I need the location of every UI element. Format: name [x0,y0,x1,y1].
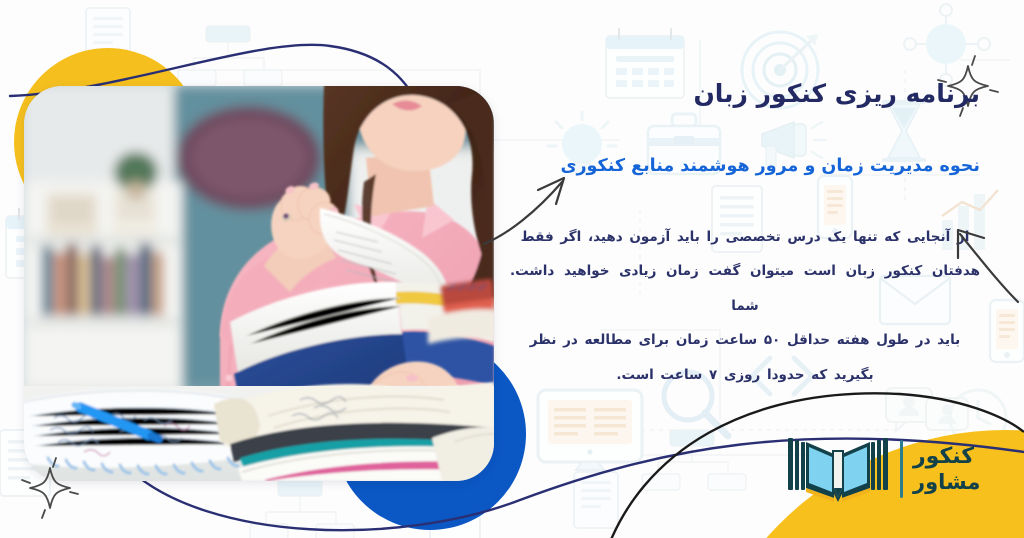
text-column: برنامه ریزی کنکور زبان نحوه مدیریت زمان … [510,78,980,392]
brand-logo[interactable]: کنکور مشاور [786,432,980,506]
brand-line-1: کنکور [913,445,974,468]
paragraph-line: باید در طول هفته حداقل ۵۰ ساعت زمان برای… [510,323,980,357]
page-title: برنامه ریزی کنکور زبان [510,78,980,109]
hero-photo [24,86,494,481]
paragraph-line: از آنجایی که تنها یک درس تخصصی را باید آ… [510,220,980,254]
banner-canvas: برنامه ریزی کنکور زبان نحوه مدیریت زمان … [0,0,1024,538]
subtitle: نحوه مدیریت زمان و مرور هوشمند منابع کنک… [510,155,980,178]
open-book-pencil-icon [786,432,890,506]
curved-arrow-icon [478,162,574,254]
brand-wordmark: کنکور مشاور [913,445,980,493]
sparkle-icon [12,450,88,526]
body-paragraph: از آنجایی که تنها یک درس تخصصی را باید آ… [510,220,980,392]
paragraph-line: بگیرید که حدودا روزی ۷ ساعت است. [510,358,980,392]
brand-line-2: مشاور [913,471,980,493]
paragraph-line: هدفتان کنکور زبان است میتوان گفت زمان زی… [510,254,980,323]
logo-divider [900,440,903,498]
curved-arrow-icon [952,212,1024,308]
